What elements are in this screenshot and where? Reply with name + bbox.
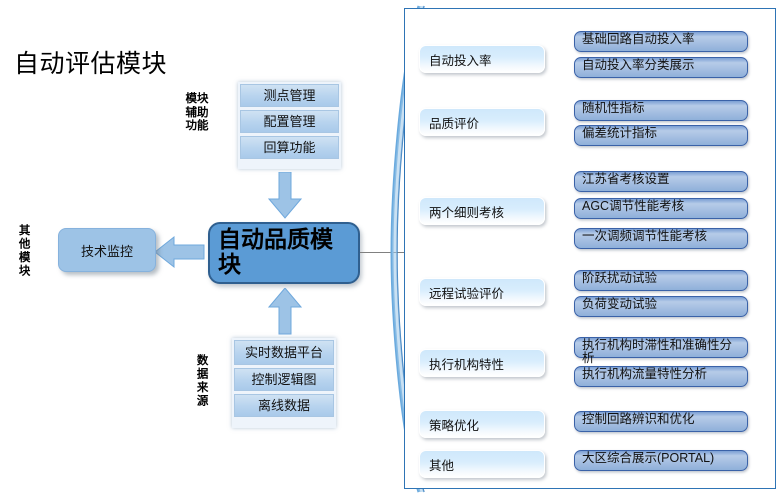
leaf-chip-auto-input-rate-classified-display[interactable]: 自动投入率分类展示	[574, 57, 748, 78]
aux-functions-stack: 测点管理 配置管理 回算功能	[238, 82, 341, 169]
source-item-offline-data[interactable]: 离线数据	[234, 394, 334, 417]
arrow-up-sources-to-main	[268, 288, 302, 336]
aux-functions-label-line-1: 模块	[180, 93, 214, 107]
aux-functions-label-line-3: 功能	[180, 120, 214, 134]
leaf-chip-jiangsu-assessment-setting[interactable]: 江苏省考核设置	[574, 171, 748, 192]
data-source-stack: 实时数据平台 控制逻辑图 离线数据	[232, 338, 336, 428]
data-source-label: 数据来源	[194, 345, 208, 417]
diagram-canvas: 自动评估模块 模块 辅助 功能 测点管理 配置管理 回算功能 自动品质模块 其他…	[0, 0, 784, 499]
category-chip-quality-evaluation[interactable]: 品质评价	[419, 108, 545, 136]
aux-functions-label: 模块 辅助 功能	[180, 93, 214, 134]
leaf-chip-actuator-flow-characteristic-analysis[interactable]: 执行机构流量特性分析	[574, 366, 748, 387]
source-item-realtime-data-platform[interactable]: 实时数据平台	[234, 340, 334, 365]
other-module-technical-monitoring[interactable]: 技术监控	[58, 228, 156, 272]
category-chip-remote-test-evaluation[interactable]: 远程试验评价	[419, 278, 545, 306]
leaf-chip-deviation-statistics-index[interactable]: 偏差统计指标	[574, 125, 748, 146]
aux-item-recalculation-function[interactable]: 回算功能	[240, 136, 339, 159]
main-module-box[interactable]: 自动品质模块	[208, 222, 360, 284]
aux-item-measurement-point-management[interactable]: 测点管理	[240, 84, 339, 107]
leaf-chip-step-disturbance-test[interactable]: 阶跃扰动试验	[574, 270, 748, 291]
leaf-chip-control-loop-identification-and-optimization[interactable]: 控制回路辨识和优化	[574, 411, 748, 432]
arrow-left-main-to-other	[155, 235, 205, 269]
leaf-chip-basic-loop-auto-input-rate[interactable]: 基础回路自动投入率	[574, 31, 748, 52]
leaf-chip-primary-frequency-regulation-performance-assessment[interactable]: 一次调频调节性能考核	[574, 228, 748, 249]
category-chip-other[interactable]: 其他	[419, 450, 545, 478]
page-title: 自动评估模块	[14, 44, 167, 80]
category-chip-auto-input-rate[interactable]: 自动投入率	[419, 45, 545, 73]
arrow-down-aux-to-main	[268, 172, 302, 220]
category-chip-two-rules-assessment[interactable]: 两个细则考核	[419, 197, 545, 225]
leaf-chip-load-variation-test[interactable]: 负荷变动试验	[574, 296, 748, 317]
other-modules-label: 其他模块	[16, 221, 30, 281]
aux-functions-label-line-2: 辅助	[180, 107, 214, 121]
leaf-chip-agc-regulation-performance-assessment[interactable]: AGC调节性能考核	[574, 198, 748, 219]
leaf-chip-actuator-lag-and-accuracy-analysis[interactable]: 执行机构时滞性和准确性分析	[574, 337, 748, 358]
source-item-control-logic-diagram[interactable]: 控制逻辑图	[234, 368, 334, 391]
category-chip-actuator-characteristics[interactable]: 执行机构特性	[419, 349, 545, 377]
category-chip-strategy-optimization[interactable]: 策略优化	[419, 410, 545, 438]
aux-item-configuration-management[interactable]: 配置管理	[240, 110, 339, 133]
leaf-chip-randomness-index[interactable]: 随机性指标	[574, 100, 748, 121]
leaf-chip-regional-comprehensive-display-portal[interactable]: 大区综合展示(PORTAL)	[574, 450, 748, 471]
